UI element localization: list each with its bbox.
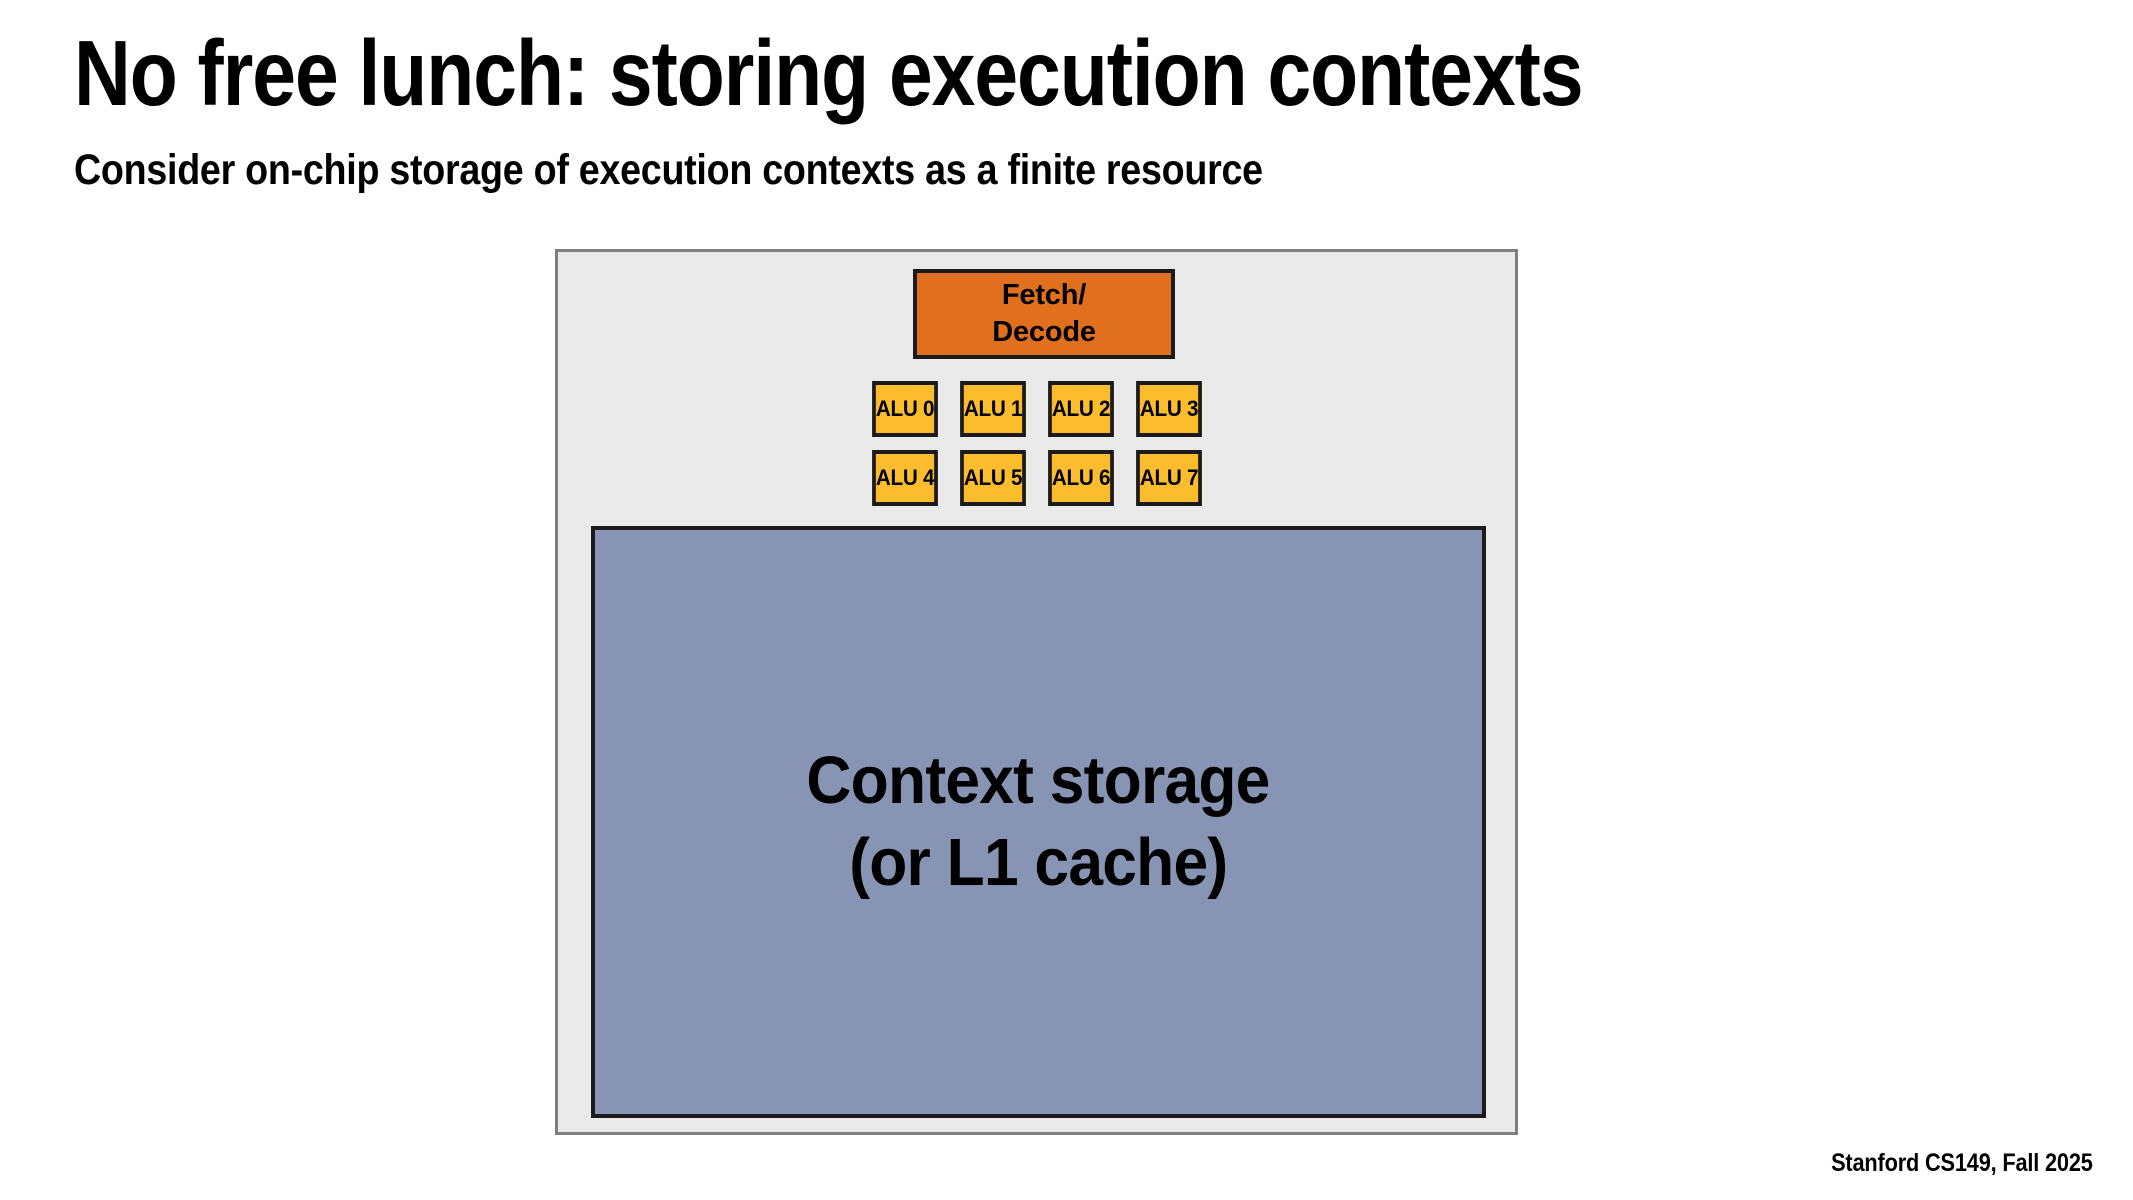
alu-block-0: ALU 0 xyxy=(872,381,938,437)
context-storage-block: Context storage (or L1 cache) xyxy=(591,526,1486,1118)
alu-grid: ALU 0 ALU 1 ALU 2 ALU 3 ALU 4 ALU 5 ALU … xyxy=(870,381,1204,506)
alu-block-3: ALU 3 xyxy=(1136,381,1202,437)
alu-block-1: ALU 1 xyxy=(960,381,1026,437)
page-title: No free lunch: storing execution context… xyxy=(74,26,1583,121)
alu-block-2: ALU 2 xyxy=(1048,381,1114,437)
alu-label: ALU 2 xyxy=(1052,396,1110,422)
alu-label: ALU 7 xyxy=(1140,465,1198,491)
slide-footer: Stanford CS149, Fall 2025 xyxy=(1831,1149,2093,1178)
alu-label: ALU 0 xyxy=(876,396,934,422)
fetch-decode-label-line2: Decode xyxy=(992,314,1096,351)
core-diagram: Fetch/ Decode ALU 0 ALU 1 ALU 2 ALU 3 AL… xyxy=(555,249,1518,1135)
alu-label: ALU 4 xyxy=(876,465,934,491)
alu-block-6: ALU 6 xyxy=(1048,450,1114,506)
alu-label: ALU 1 xyxy=(964,396,1022,422)
context-storage-label-line1: Context storage xyxy=(807,740,1270,822)
alu-label: ALU 3 xyxy=(1140,396,1198,422)
page-subtitle: Consider on-chip storage of execution co… xyxy=(74,148,1263,193)
fetch-decode-block: Fetch/ Decode xyxy=(913,269,1175,359)
alu-block-4: ALU 4 xyxy=(872,450,938,506)
fetch-decode-label-line1: Fetch/ xyxy=(1002,277,1086,314)
alu-block-5: ALU 5 xyxy=(960,450,1026,506)
alu-block-7: ALU 7 xyxy=(1136,450,1202,506)
alu-label: ALU 5 xyxy=(964,465,1022,491)
alu-label: ALU 6 xyxy=(1052,465,1110,491)
context-storage-label-line2: (or L1 cache) xyxy=(849,822,1227,904)
